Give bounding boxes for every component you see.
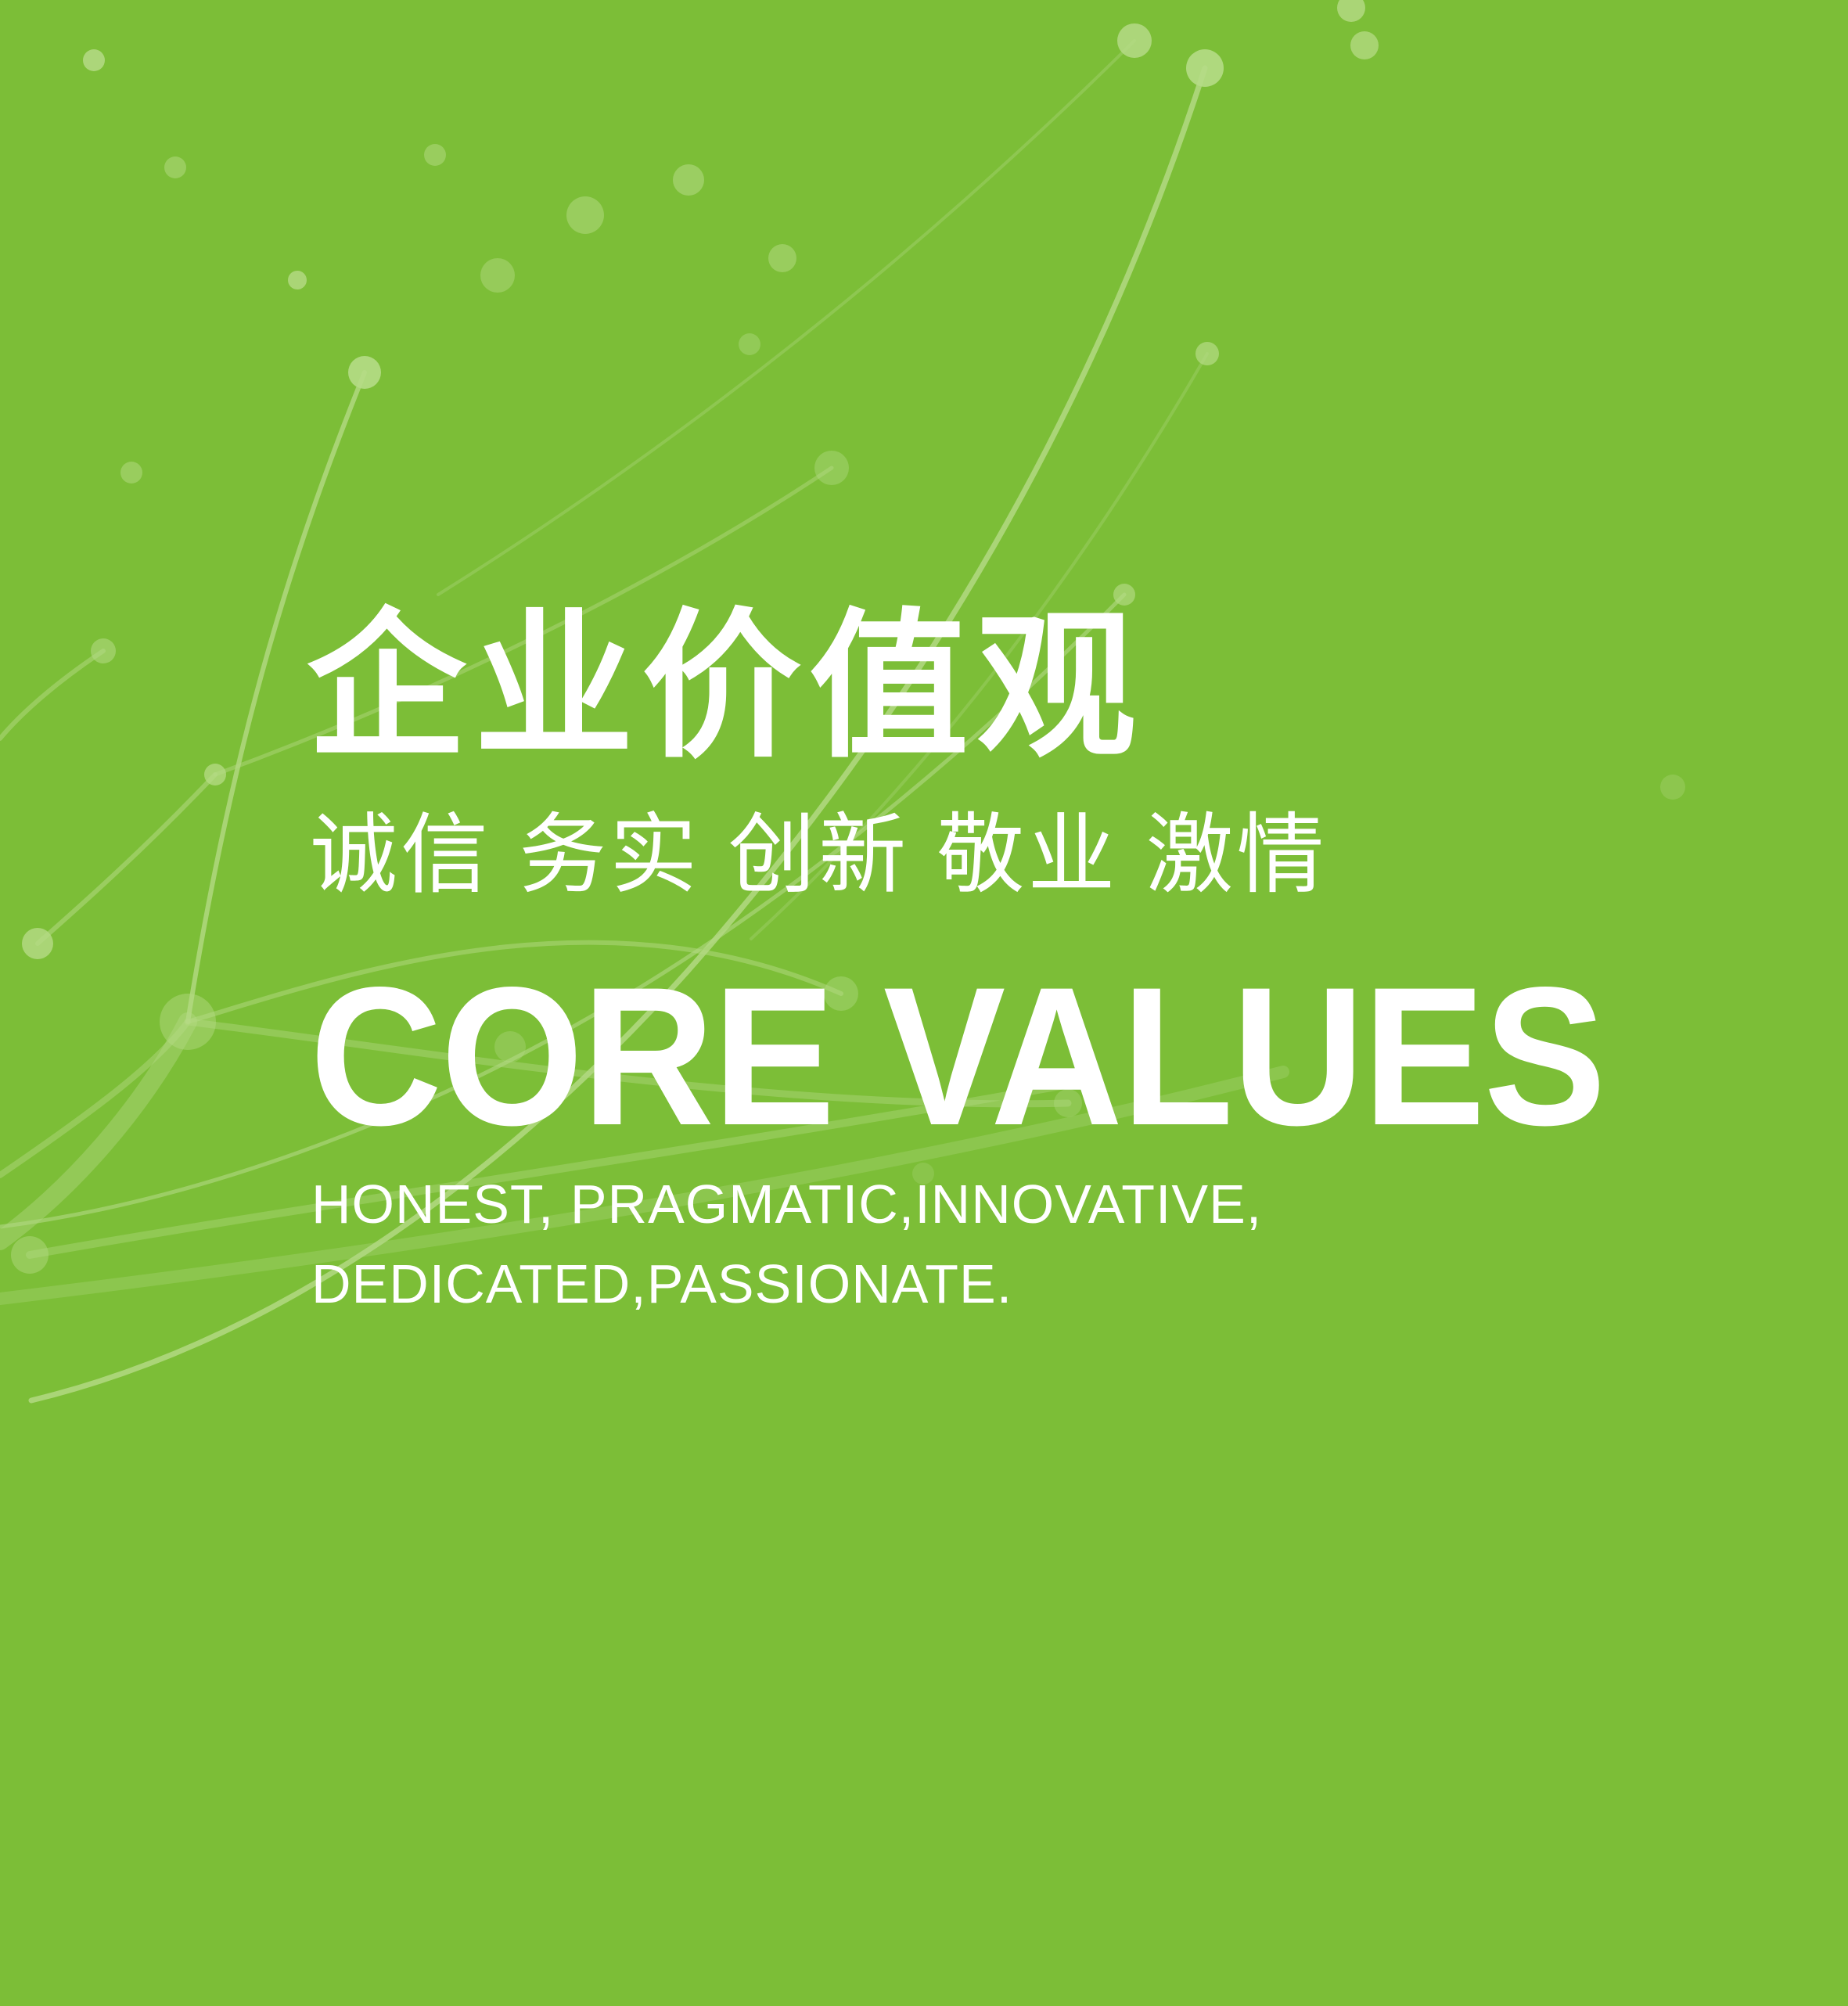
page-title-cn: 企业价值观 [307, 595, 1715, 779]
page-subtitle-en-line1: HONEST, PRAGMATIC,INNOVATIVE, [311, 1164, 1715, 1244]
page-title-en: CORE VALUES [310, 972, 1616, 1142]
page-subtitle-en-line2: DEDICATED,PASSIONATE. [311, 1244, 1715, 1324]
page-subtitle-en: HONEST, PRAGMATIC,INNOVATIVE, DEDICATED,… [311, 1164, 1715, 1324]
core-values-poster: 企业价值观 诚信 务实 创新 敬业 激情 CORE VALUES HONEST,… [0, 0, 1848, 2006]
page-subtitle-cn: 诚信 务实 创新 敬业 激情 [310, 796, 1715, 914]
poster-content: 企业价值观 诚信 务实 创新 敬业 激情 CORE VALUES HONEST,… [307, 595, 1715, 1324]
